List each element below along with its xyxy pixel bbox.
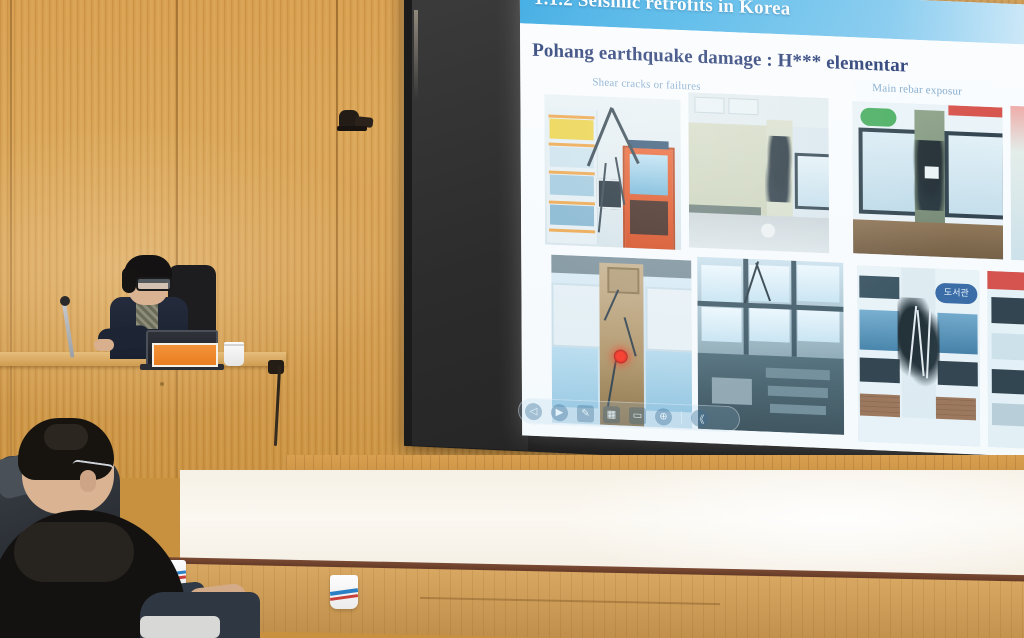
chair-back xyxy=(140,616,220,638)
next-slide-icon[interactable]: ▶ xyxy=(551,403,568,421)
library-sign-label: 도서관 xyxy=(935,283,977,305)
slide-body: Pohang earthquake damage : H*** elementa… xyxy=(520,23,1024,456)
wall-seam xyxy=(336,0,338,478)
podium-screw xyxy=(160,382,164,386)
wall-mounted-speaker-icon xyxy=(339,110,373,132)
slide-grid-icon[interactable]: ▦ xyxy=(603,405,620,423)
laser-pointer-dot xyxy=(614,349,628,364)
zoom-slide-icon[interactable]: ⊕ xyxy=(655,408,672,426)
presenter-hair-side xyxy=(122,267,136,293)
microphone-head-icon xyxy=(60,296,70,306)
slide-photo-right-edge-facade xyxy=(987,271,1024,449)
previous-slide-icon[interactable]: ◁ xyxy=(525,402,542,420)
lecture-hall-photo: 1.1.2 Seismic retrofits in Korea Pohang … xyxy=(0,0,1024,638)
section-label-left: Shear cracks or failures xyxy=(592,76,700,93)
presenter-glasses xyxy=(136,277,172,291)
slide-photo-right-edge-strip xyxy=(1010,106,1024,261)
pen-tool-icon[interactable]: ✎ xyxy=(577,404,594,422)
slide-photo-corridor-column xyxy=(688,92,829,253)
paper-cup xyxy=(330,575,358,609)
section-label-right: Main rebar exposur xyxy=(872,82,962,98)
presenter-cup xyxy=(224,342,244,366)
toolbar-separator xyxy=(681,411,682,424)
slide-subtitle: Pohang earthquake damage : H*** elementa… xyxy=(532,40,908,78)
podium-cable-clamp xyxy=(268,360,284,374)
screen-edge-highlight xyxy=(414,10,418,100)
projected-slide: 1.1.2 Seismic retrofits in Korea Pohang … xyxy=(520,0,1024,457)
slide-photo-rebar-exposure-column xyxy=(852,101,1003,259)
name-placard xyxy=(152,343,218,367)
more-options-icon[interactable]: 《 xyxy=(691,409,708,427)
camera-video-icon[interactable]: ▭ xyxy=(629,406,646,424)
slide-photo-facade-library-sign: 도서관 xyxy=(857,265,980,446)
slide-photo-shear-crack-vending xyxy=(544,94,681,250)
presenter-hand xyxy=(94,339,114,351)
projection-screen-dark-area xyxy=(412,0,528,451)
slide-title: 1.1.2 Seismic retrofits in Korea xyxy=(534,0,791,21)
